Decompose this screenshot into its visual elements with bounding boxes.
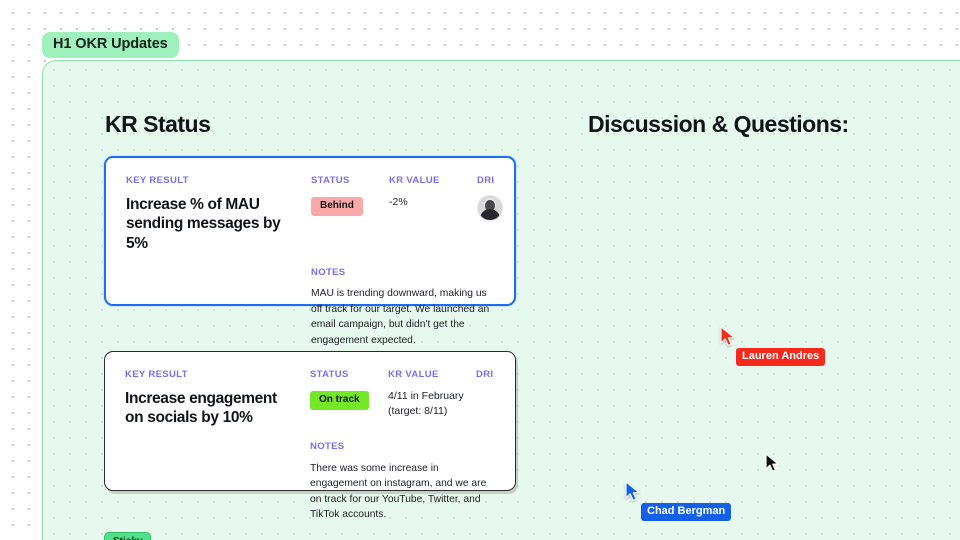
- cursor-label: Lauren Andres: [736, 348, 825, 366]
- kr-value: -2%: [389, 195, 477, 254]
- column-header-kr-value: KR VALUE: [388, 370, 476, 380]
- cursor-label: Chad Bergman: [641, 503, 731, 521]
- status-badge[interactable]: Behind: [311, 197, 363, 216]
- column-header-notes: NOTES: [311, 268, 494, 278]
- frame-title-label[interactable]: H1 OKR Updates: [42, 32, 179, 58]
- notes-block: NOTES There was some increase in engagem…: [310, 442, 495, 522]
- column-header-status: STATUS: [310, 370, 388, 380]
- sticky-note-badge[interactable]: Sticky: [104, 532, 151, 540]
- kr-title: Increase engagement on socials by 10%: [125, 389, 310, 429]
- column-header-dri: DRI: [477, 176, 517, 186]
- kr-value: 4/11 in February (target: 8/11): [388, 389, 476, 429]
- cursor-arrow-icon: [720, 326, 736, 348]
- column-header-key-result: KEY RESULT: [125, 370, 310, 380]
- column-header-notes: NOTES: [310, 442, 495, 452]
- notes-text: There was some increase in engagement on…: [310, 461, 495, 523]
- page-title-discussion: Discussion & Questions:: [588, 111, 849, 138]
- status-cell: Behind: [311, 195, 389, 254]
- column-header-kr-value: KR VALUE: [389, 176, 477, 186]
- kr-card[interactable]: KEY RESULT STATUS KR VALUE DRI Increase …: [104, 156, 516, 306]
- avatar[interactable]: [477, 195, 503, 221]
- collaborator-cursor-chad: Chad Bergman: [625, 481, 641, 503]
- status-cell: On track: [310, 389, 388, 429]
- avatar-body-shape: [480, 209, 500, 221]
- kr-title: Increase % of MAU sending messages by 5%: [126, 195, 311, 254]
- dri-cell: [476, 389, 516, 429]
- board-frame[interactable]: KR Status Discussion & Questions: KEY RE…: [42, 60, 960, 540]
- status-badge[interactable]: On track: [310, 391, 369, 410]
- canvas-app: H1 OKR Updates KR Status Discussion & Qu…: [0, 0, 960, 540]
- notes-text: MAU is trending downward, making us off …: [311, 286, 494, 348]
- notes-block: NOTES MAU is trending downward, making u…: [311, 268, 494, 348]
- collaborator-cursor-lauren: Lauren Andres: [720, 326, 736, 348]
- kr-card[interactable]: KEY RESULT STATUS KR VALUE DRI Increase …: [104, 351, 516, 491]
- dri-cell: [477, 195, 517, 254]
- column-header-status: STATUS: [311, 176, 389, 186]
- cursor-arrow-icon: [625, 481, 641, 503]
- column-header-key-result: KEY RESULT: [126, 176, 311, 186]
- page-title-kr-status: KR Status: [105, 111, 210, 138]
- column-header-dri: DRI: [476, 370, 516, 380]
